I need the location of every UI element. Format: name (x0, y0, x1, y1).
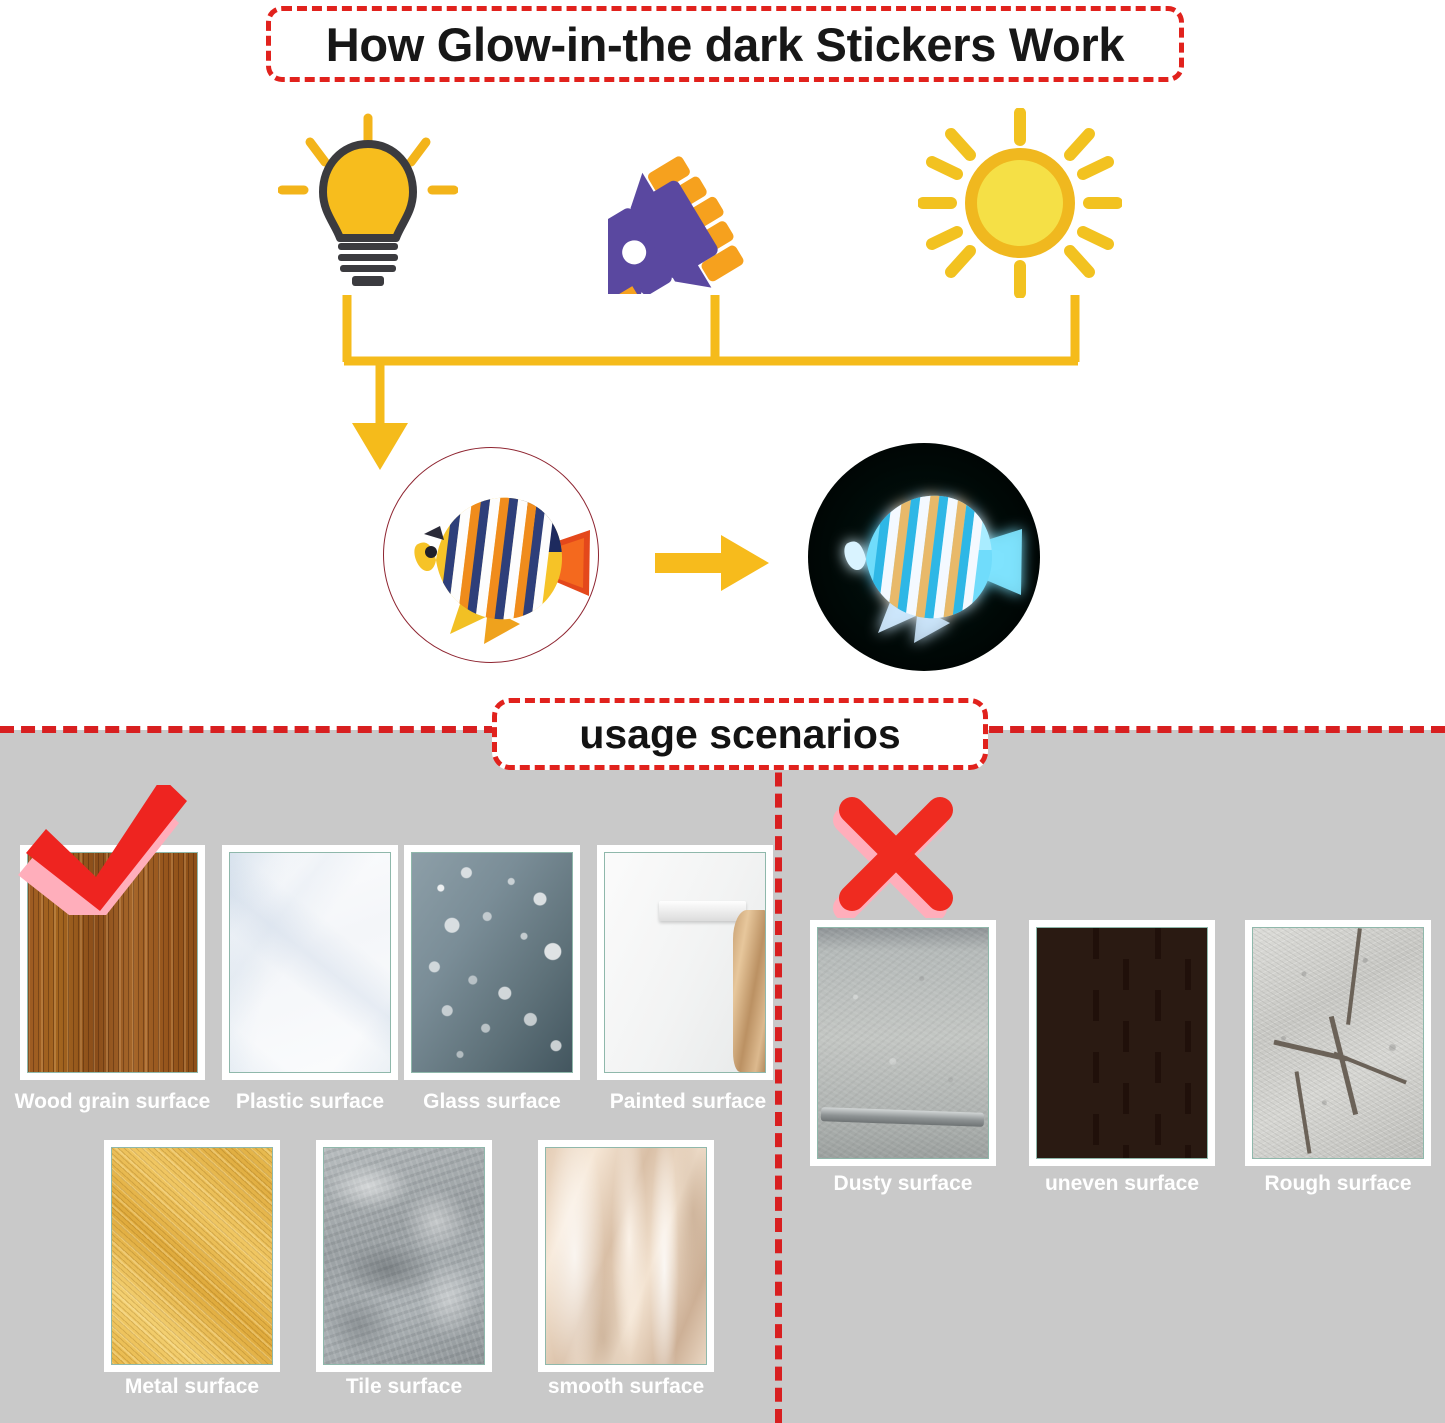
surface-image-plastic (229, 852, 391, 1073)
surface-card-glass (404, 845, 580, 1080)
explainer-top-section: How Glow-in-the dark Stickers Work (0, 0, 1445, 730)
light-bulb-icon (278, 112, 458, 292)
brick-row (1037, 1021, 1207, 1052)
wall-hook (659, 901, 745, 921)
brick-row (1037, 990, 1207, 1021)
page-title: How Glow-in-the dark Stickers Work (326, 17, 1125, 72)
brick-texture (1037, 928, 1207, 1158)
fish-sticker-glowing (808, 443, 1040, 671)
surface-label-rough: Rough surface (1235, 1172, 1441, 1196)
surface-label-wood: Wood grain surface (0, 1090, 225, 1114)
surface-image-painted (604, 852, 766, 1073)
surface-card-metal (104, 1140, 280, 1372)
brick-row (1037, 928, 1207, 959)
surface-image-uneven (1036, 927, 1208, 1159)
surface-card-smooth (538, 1140, 714, 1372)
surface-label-painted: Painted surface (588, 1090, 788, 1114)
flashlight-icon (608, 108, 804, 294)
sun-icon (918, 108, 1122, 298)
surface-card-tile (316, 1140, 492, 1372)
glass-texture (412, 853, 572, 1072)
brick-row (1037, 959, 1207, 990)
brick-row-group (1037, 928, 1207, 1158)
pipe-detail (821, 1107, 985, 1126)
rough-texture (1253, 928, 1423, 1158)
surface-label-glass: Glass surface (392, 1090, 592, 1114)
surface-label-metal: Metal surface (92, 1375, 292, 1399)
plastic-texture (230, 853, 390, 1072)
usage-scenarios-banner: usage scenarios (492, 698, 988, 770)
surface-image-glass (411, 852, 573, 1073)
dusty-texture (818, 928, 988, 1158)
surface-image-dusty (817, 927, 989, 1159)
surface-label-smooth: smooth surface (526, 1375, 726, 1399)
cross-mark-icon (832, 790, 960, 918)
surface-card-uneven (1029, 920, 1215, 1166)
crack-line (1294, 1071, 1311, 1153)
surface-label-plastic: Plastic surface (210, 1090, 410, 1114)
vertical-dashed-divider (775, 730, 782, 1423)
crack-line (1346, 928, 1362, 1024)
tile-texture (324, 1148, 484, 1364)
hanging-towel (733, 910, 766, 1072)
check-mark-icon (12, 785, 187, 915)
fish-sticker-daylight (383, 447, 599, 663)
brick-row (1037, 1145, 1207, 1159)
title-banner: How Glow-in-the dark Stickers Work (266, 6, 1184, 82)
surface-image-smooth (545, 1147, 707, 1365)
surface-card-rough (1245, 920, 1431, 1166)
transform-arrow-icon (655, 533, 770, 593)
smooth-texture (546, 1148, 706, 1364)
brick-row (1037, 1114, 1207, 1145)
surface-image-rough (1252, 927, 1424, 1159)
surface-label-uneven: uneven surface (1019, 1172, 1225, 1196)
surface-card-dusty (810, 920, 996, 1166)
surface-image-tile (323, 1147, 485, 1365)
usage-scenarios-title: usage scenarios (579, 711, 900, 758)
surface-label-tile: Tile surface (304, 1375, 504, 1399)
surface-card-painted (597, 845, 773, 1080)
surface-label-dusty: Dusty surface (800, 1172, 1006, 1196)
surface-card-plastic (222, 845, 398, 1080)
brick-row (1037, 1083, 1207, 1114)
metal-texture (112, 1148, 272, 1364)
painted-texture (605, 853, 765, 1072)
brick-row (1037, 1052, 1207, 1083)
crack-line (1329, 1016, 1358, 1115)
light-to-sticker-connector (330, 295, 1120, 475)
surface-image-metal (111, 1147, 273, 1365)
